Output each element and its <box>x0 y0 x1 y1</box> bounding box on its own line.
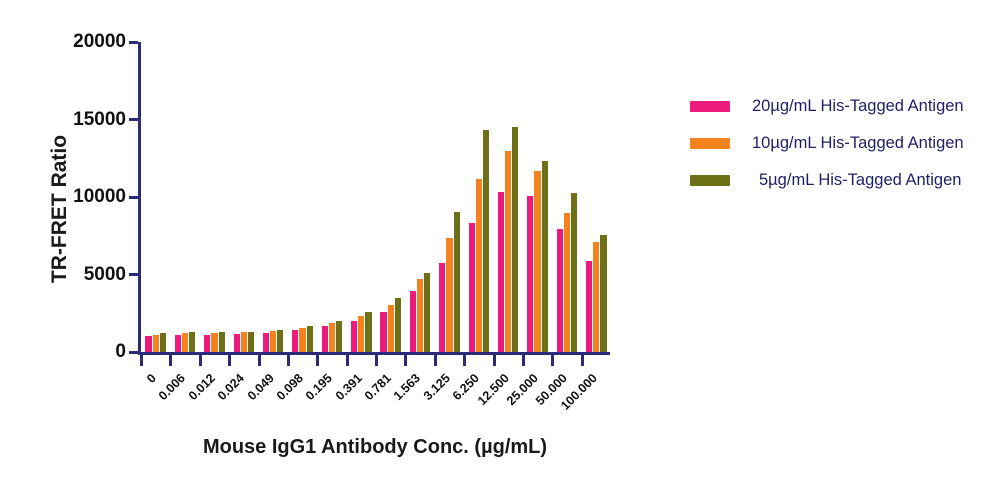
x-tick-label: 1.563 <box>391 371 423 403</box>
bar <box>395 298 401 352</box>
bar <box>380 312 386 352</box>
x-tick-mark <box>375 355 378 366</box>
legend-item-label: 20µg/mL His-Tagged Antigen <box>752 97 964 116</box>
bar <box>365 312 371 352</box>
y-axis-line <box>138 42 141 354</box>
bar <box>534 171 540 352</box>
bar <box>329 323 335 352</box>
bar <box>219 332 225 352</box>
x-tick-label: 0.049 <box>244 371 276 403</box>
x-tick-label: 0.006 <box>156 371 188 403</box>
y-tick-mark <box>129 273 138 276</box>
x-tick-mark <box>228 355 231 366</box>
x-tick-mark <box>258 355 261 366</box>
x-tick-mark <box>522 355 525 366</box>
x-tick-label: 0.098 <box>274 371 306 403</box>
bar <box>292 330 298 352</box>
bar <box>145 336 151 352</box>
bar <box>505 151 511 353</box>
bar <box>476 179 482 352</box>
x-tick-mark <box>346 355 349 366</box>
x-tick-mark <box>581 355 584 366</box>
chart-legend: 20µg/mL His-Tagged Antigen10µg/mL His-Ta… <box>690 88 964 199</box>
bar <box>417 279 423 352</box>
legend-swatch-icon <box>690 101 730 112</box>
x-tick-label: 3.125 <box>421 371 453 403</box>
legend-item[interactable]: 20µg/mL His-Tagged Antigen <box>690 88 964 125</box>
plot-area: 05000100001500020000 00.0060.0120.0240.0… <box>140 42 610 352</box>
bar <box>175 335 181 352</box>
x-tick-label: 0.391 <box>333 371 365 403</box>
x-tick-mark <box>169 355 172 366</box>
x-tick-label: 25.000 <box>504 371 541 408</box>
bar <box>160 333 166 352</box>
y-axis-title: TR-FRET Ratio <box>48 79 72 339</box>
x-tick-mark <box>140 355 143 366</box>
bar <box>483 130 489 352</box>
x-tick-mark <box>404 355 407 366</box>
x-tick-label: 0.781 <box>362 371 394 403</box>
x-tick-mark <box>287 355 290 366</box>
bar <box>307 326 313 352</box>
x-tick-mark <box>463 355 466 366</box>
bar <box>358 316 364 352</box>
x-tick-label: 0.195 <box>303 371 335 403</box>
bar <box>351 321 357 352</box>
bar <box>557 229 563 352</box>
y-tick-mark <box>129 118 138 121</box>
bar <box>498 192 504 352</box>
x-tick-mark <box>493 355 496 366</box>
chart-canvas: TR-FRET Ratio 05000100001500020000 00.00… <box>0 0 1000 486</box>
bar <box>299 328 305 352</box>
legend-swatch-icon <box>690 138 730 149</box>
bar <box>388 305 394 352</box>
bar <box>446 238 452 352</box>
bar <box>241 332 247 352</box>
x-tick-label: 12.500 <box>474 371 511 408</box>
bar <box>600 235 606 352</box>
x-tick-mark <box>551 355 554 366</box>
legend-item[interactable]: 10µg/mL His-Tagged Antigen <box>690 125 964 162</box>
x-tick-label: 0.024 <box>215 371 247 403</box>
bar <box>542 161 548 352</box>
legend-item-label: 10µg/mL His-Tagged Antigen <box>752 134 964 153</box>
y-tick-mark <box>129 351 138 354</box>
bar <box>439 263 445 352</box>
y-tick-label: 15000 <box>73 109 126 131</box>
y-tick-label: 10000 <box>73 186 126 208</box>
bar <box>469 223 475 352</box>
bar <box>322 326 328 352</box>
x-tick-mark <box>316 355 319 366</box>
y-tick-mark <box>129 41 138 44</box>
legend-swatch-icon <box>690 175 730 186</box>
y-tick-label: 5000 <box>84 264 126 286</box>
bar <box>277 330 283 352</box>
y-tick-label: 0 <box>115 341 126 363</box>
bar <box>593 242 599 352</box>
x-tick-label: 0.012 <box>186 371 218 403</box>
bar <box>571 193 577 352</box>
x-tick-mark <box>199 355 202 366</box>
bar <box>263 333 269 352</box>
bar <box>410 291 416 352</box>
bar <box>336 321 342 352</box>
x-tick-label: 0 <box>144 371 159 386</box>
bar <box>189 332 195 352</box>
bar <box>211 333 217 352</box>
y-tick-mark <box>129 196 138 199</box>
bar <box>512 127 518 352</box>
x-axis-line <box>138 352 610 355</box>
legend-item[interactable]: 5µg/mL His-Tagged Antigen <box>690 162 964 199</box>
bar <box>182 333 188 352</box>
bar <box>564 213 570 352</box>
legend-item-label: 5µg/mL His-Tagged Antigen <box>759 171 961 190</box>
bar <box>204 335 210 352</box>
bar <box>454 212 460 352</box>
bar <box>234 334 240 352</box>
bar <box>248 332 254 352</box>
y-tick-label: 20000 <box>73 31 126 53</box>
bar <box>424 273 430 352</box>
bar <box>270 331 276 352</box>
bar <box>527 196 533 352</box>
x-tick-mark <box>434 355 437 366</box>
x-axis-title: Mouse IgG1 Antibody Conc. (µg/mL) <box>140 436 610 459</box>
bar <box>153 335 159 352</box>
bar <box>586 261 592 352</box>
